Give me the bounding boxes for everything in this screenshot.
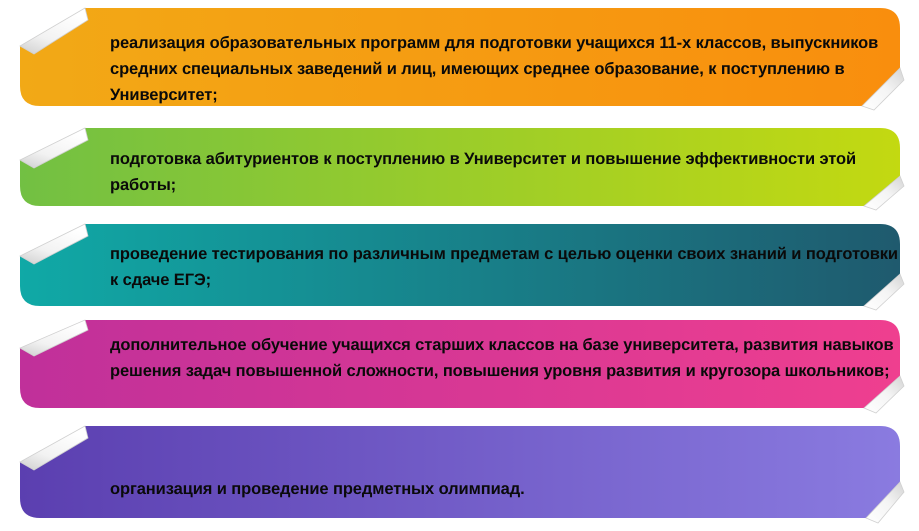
banner-item-4[interactable]: дополнительное обучение учащихся старших… [0,318,919,418]
banner-text-1: реализация образовательных программ для … [110,30,900,108]
banner-text-4: дополнительное обучение учащихся старших… [110,332,900,384]
banner-item-2[interactable]: подготовка абитуриентов к поступлению в … [0,126,919,214]
banner-item-1[interactable]: реализация образовательных программ для … [0,6,919,118]
banner-text-5: организация и проведение предметных олим… [110,476,900,502]
banner-item-3[interactable]: проведение тестирования по различным пре… [0,222,919,314]
banner-text-3: проведение тестирования по различным пре… [110,241,900,293]
banner-list-canvas: реализация образовательных программ для … [0,0,919,531]
banner-item-5[interactable]: организация и проведение предметных олим… [0,424,919,528]
banner-body-5 [20,426,900,518]
banner-text-2: подготовка абитуриентов к поступлению в … [110,146,900,198]
